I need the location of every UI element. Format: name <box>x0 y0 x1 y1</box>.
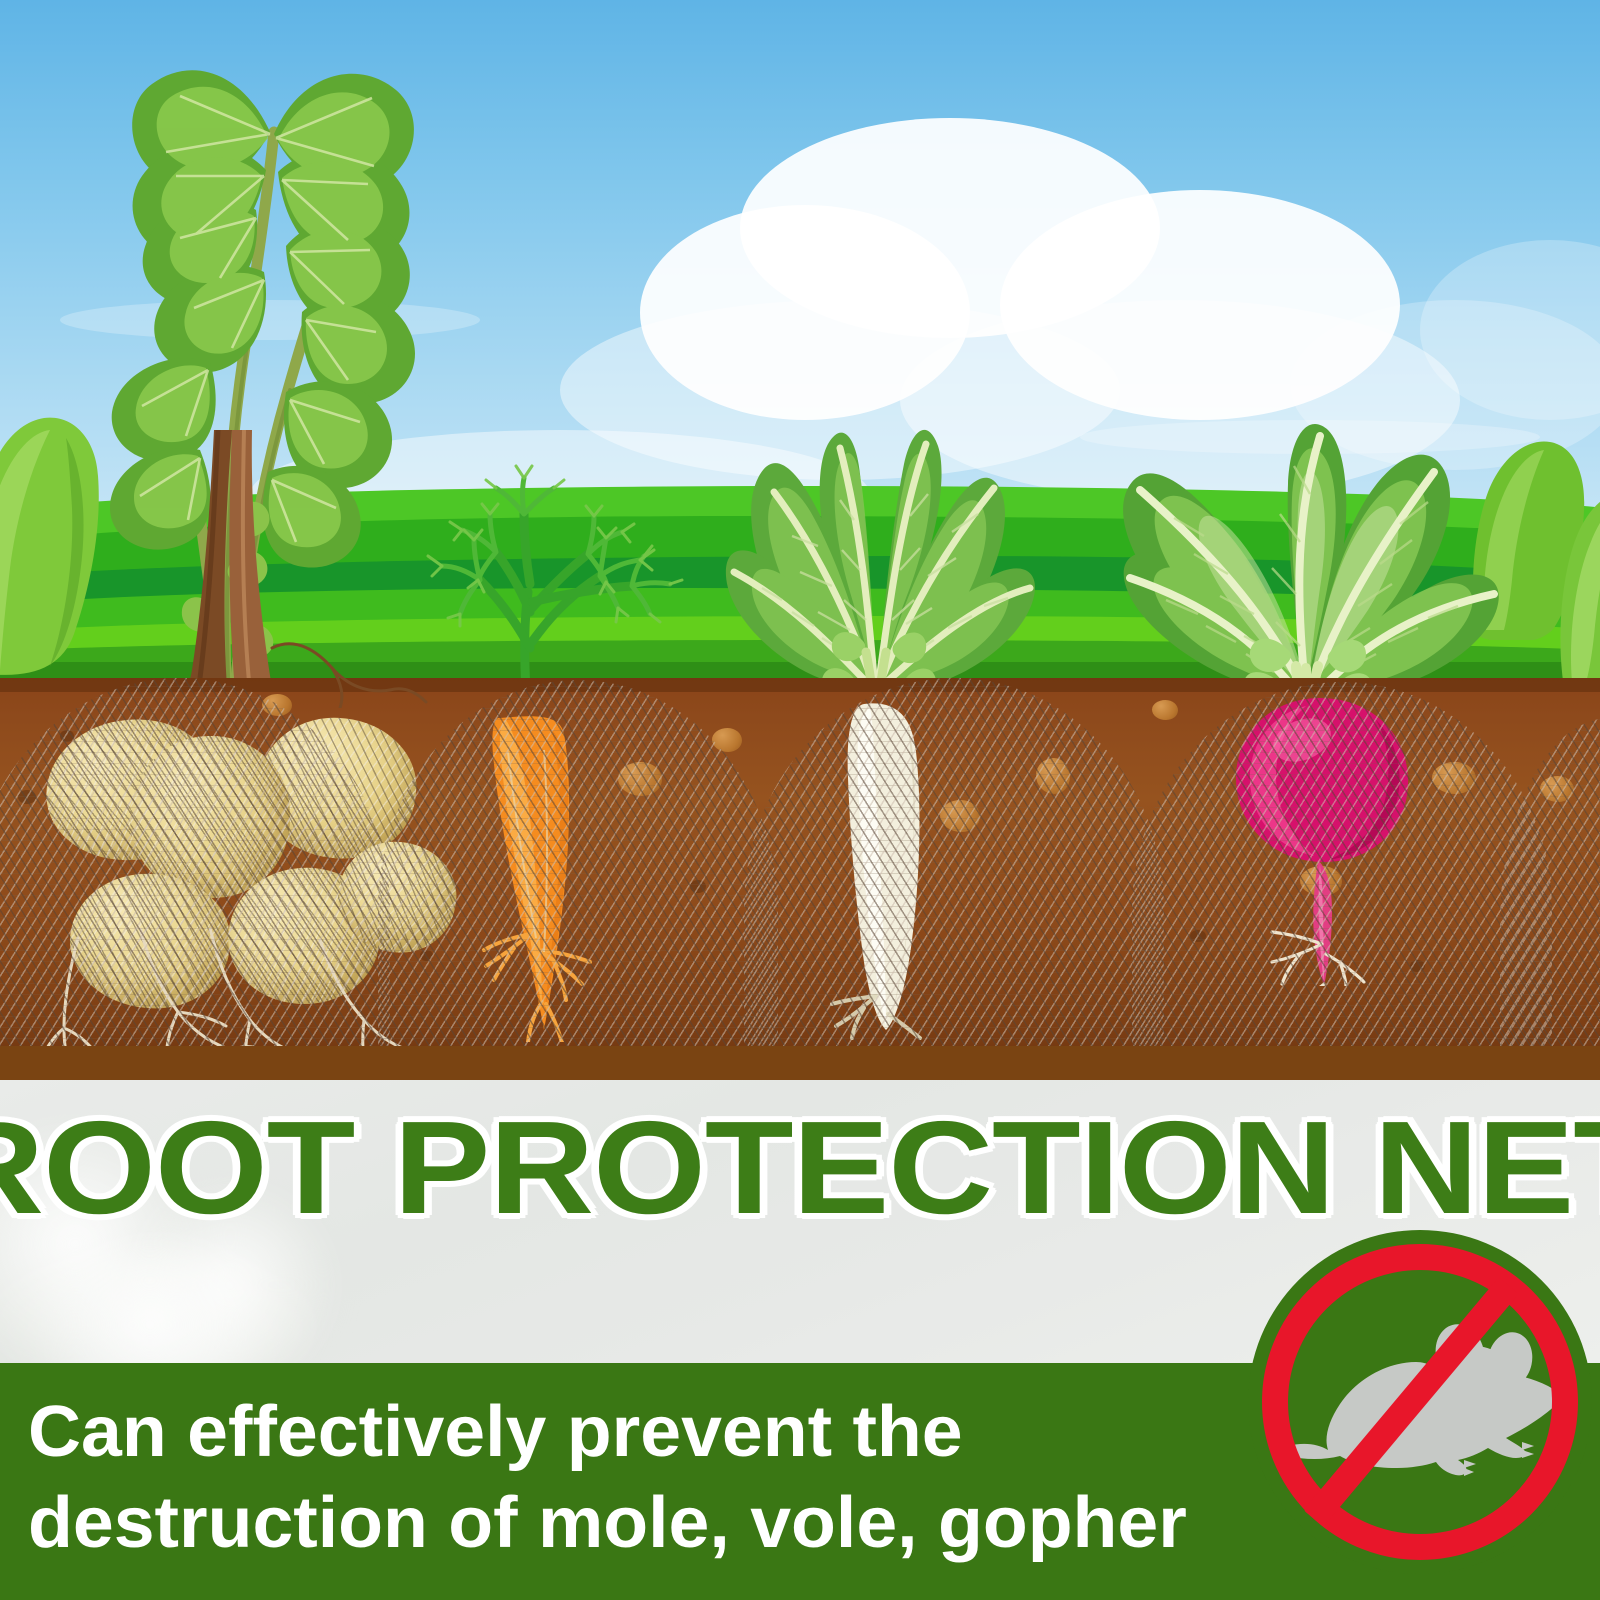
no-rodent-badge <box>1248 1230 1592 1574</box>
beet-plant-foliage <box>1080 398 1530 698</box>
soil-base-strip <box>0 1046 1600 1080</box>
net-arch-daikon <box>744 678 1164 1050</box>
carrot-plant-foliage <box>404 452 704 692</box>
protection-net-overlay <box>0 678 1600 1080</box>
potato-stem-trunk <box>170 430 280 700</box>
net-arch-edge <box>1500 718 1600 1050</box>
garden-cross-section-illustration <box>0 0 1600 1080</box>
page-title: ROOT PROTECTION NET <box>0 1092 1600 1243</box>
tagline-line-2: destruction of mole, vole, gopher <box>28 1478 1313 1569</box>
tagline-text: Can effectively prevent the destruction … <box>28 1387 1313 1568</box>
lettuce-bush-right-b <box>1560 450 1600 690</box>
product-image: ROOT PROTECTION NET Can effectively prev… <box>0 0 1600 1600</box>
net-arch-carrot <box>378 680 778 1050</box>
net-arch-beet <box>1132 682 1552 1050</box>
daikon-plant-foliage <box>700 400 1050 690</box>
tagline-line-1: Can effectively prevent the <box>28 1387 1313 1478</box>
